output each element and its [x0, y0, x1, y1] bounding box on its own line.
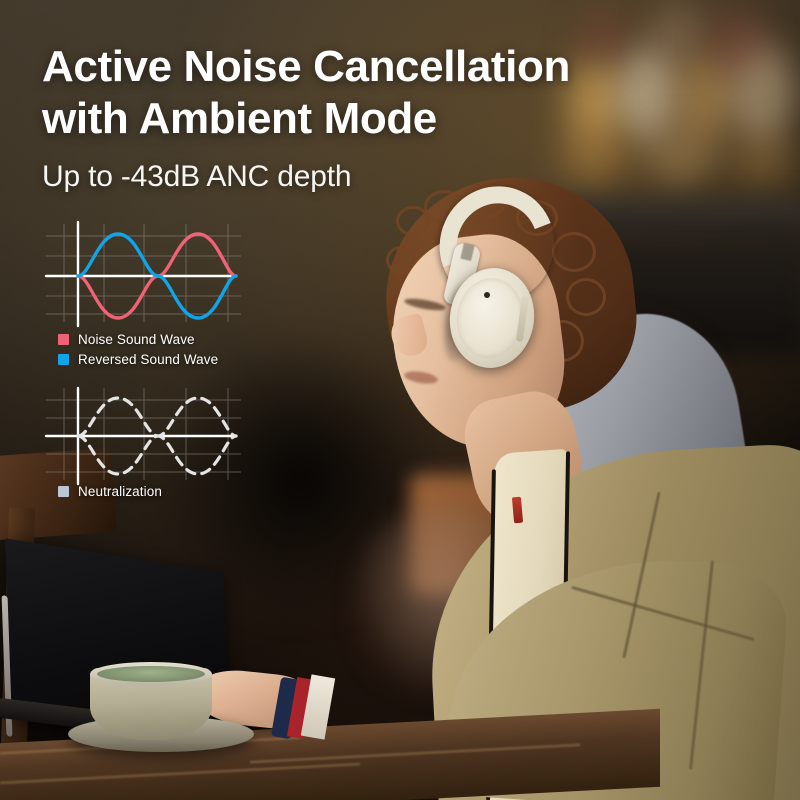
page-title: Active Noise Cancellation with Ambient M…: [42, 41, 602, 145]
hair-curl: [566, 278, 606, 316]
legend-item: Reversed Sound Wave: [58, 352, 218, 367]
legend-neutralization: Neutralization: [58, 484, 162, 499]
legend-swatch-neutralization: [58, 486, 69, 497]
legend-phase-inversion: Noise Sound Wave Reversed Sound Wave: [58, 332, 218, 367]
legend-swatch-reversed-sound-wave: [58, 354, 69, 365]
legend-item: Neutralization: [58, 484, 162, 499]
legend-label-neutralization: Neutralization: [78, 484, 162, 499]
legend-label-reversed-sound-wave: Reversed Sound Wave: [78, 352, 218, 367]
microphone-icon: [484, 292, 490, 298]
legend-swatch-noise-sound-wave: [58, 334, 69, 345]
chart-anc-phase-inversion: [46, 222, 246, 326]
phase-inversion-svg: [46, 222, 246, 326]
legend-item: Noise Sound Wave: [58, 332, 218, 347]
chart-gridlines: [46, 224, 241, 322]
page-subtitle: Up to -43dB ANC depth: [42, 160, 351, 194]
legend-label-noise-sound-wave: Noise Sound Wave: [78, 332, 195, 347]
product-banner: Active Noise Cancellation with Ambient M…: [0, 0, 800, 800]
neutralization-svg: [46, 388, 246, 484]
cup-interior: [97, 666, 205, 682]
chart-anc-neutralization: [46, 388, 246, 484]
hair-curl: [552, 232, 596, 272]
chart-gridlines: [46, 388, 241, 480]
